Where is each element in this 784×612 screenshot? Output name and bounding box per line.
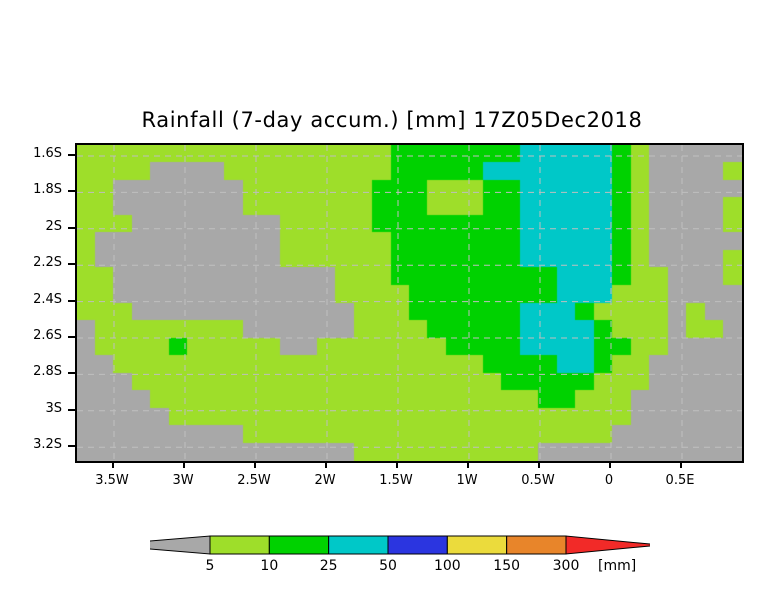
x-axis-tick-label: 0 bbox=[579, 473, 639, 488]
x-axis-tick-mark bbox=[467, 461, 469, 468]
y-axis-tick-mark bbox=[68, 409, 75, 411]
x-axis-tick-label: 0.5W bbox=[508, 473, 568, 488]
y-axis-tick-mark bbox=[68, 227, 75, 229]
colorbar-under-arrow bbox=[150, 536, 210, 554]
y-axis-tick-mark bbox=[68, 445, 75, 447]
colorbar-level-label: 150 bbox=[477, 558, 537, 574]
y-axis-tick-label: 1.6S bbox=[0, 146, 62, 161]
colorbar: [mm] 5102550100150300 bbox=[0, 528, 784, 588]
rainfall-heatmap-canvas bbox=[77, 145, 742, 461]
x-axis-tick-label: 1.5W bbox=[366, 473, 426, 488]
x-axis-tick-label: 2.5W bbox=[224, 473, 284, 488]
colorbar-segment bbox=[447, 536, 506, 554]
x-axis-tick-mark bbox=[183, 461, 185, 468]
colorbar-segment bbox=[388, 536, 447, 554]
colorbar-level-label: 100 bbox=[417, 558, 477, 574]
y-axis-tick-label: 1.8S bbox=[0, 182, 62, 197]
x-axis-tick-label: 0.5E bbox=[650, 473, 710, 488]
x-axis-tick-mark bbox=[396, 461, 398, 468]
y-axis-tick-mark bbox=[68, 190, 75, 192]
page-title: Rainfall (7-day accum.) [mm] 17Z05Dec201… bbox=[0, 108, 784, 132]
colorbar-swatches bbox=[150, 528, 650, 562]
colorbar-segment bbox=[210, 536, 269, 554]
colorbar-segment bbox=[269, 536, 328, 554]
plot-area bbox=[75, 143, 744, 463]
x-axis-tick-label: 3.5W bbox=[82, 473, 142, 488]
y-axis-tick-label: 2.4S bbox=[0, 292, 62, 307]
colorbar-over-arrow bbox=[566, 536, 650, 554]
x-axis-tick-label: 1W bbox=[437, 473, 497, 488]
y-axis-tick-mark bbox=[68, 336, 75, 338]
y-axis-tick-label: 2.6S bbox=[0, 328, 62, 343]
x-axis-tick-label: 3W bbox=[153, 473, 213, 488]
x-axis-tick-mark bbox=[609, 461, 611, 468]
x-axis-tick-mark bbox=[254, 461, 256, 468]
x-axis-tick-mark bbox=[680, 461, 682, 468]
colorbar-level-label: 25 bbox=[299, 558, 359, 574]
y-axis-tick-mark bbox=[68, 300, 75, 302]
y-axis-tick-mark bbox=[68, 372, 75, 374]
colorbar-segment bbox=[507, 536, 566, 554]
colorbar-level-label: 50 bbox=[358, 558, 418, 574]
chart-root: Rainfall (7-day accum.) [mm] 17Z05Dec201… bbox=[0, 0, 784, 612]
colorbar-segment bbox=[329, 536, 388, 554]
colorbar-level-label: 5 bbox=[180, 558, 240, 574]
x-axis-tick-mark bbox=[112, 461, 114, 468]
colorbar-level-label: 300 bbox=[536, 558, 596, 574]
y-axis-tick-mark bbox=[68, 154, 75, 156]
y-axis-tick-label: 3S bbox=[0, 401, 62, 416]
y-axis-tick-label: 2.8S bbox=[0, 364, 62, 379]
colorbar-units-label: [mm] bbox=[598, 558, 636, 574]
y-axis-tick-label: 2.2S bbox=[0, 255, 62, 270]
x-axis-tick-mark bbox=[325, 461, 327, 468]
colorbar-level-label: 10 bbox=[239, 558, 299, 574]
x-axis-tick-mark bbox=[538, 461, 540, 468]
y-axis-tick-label: 3.2S bbox=[0, 437, 62, 452]
y-axis-tick-label: 2S bbox=[0, 219, 62, 234]
y-axis-tick-mark bbox=[68, 263, 75, 265]
x-axis-tick-label: 2W bbox=[295, 473, 355, 488]
